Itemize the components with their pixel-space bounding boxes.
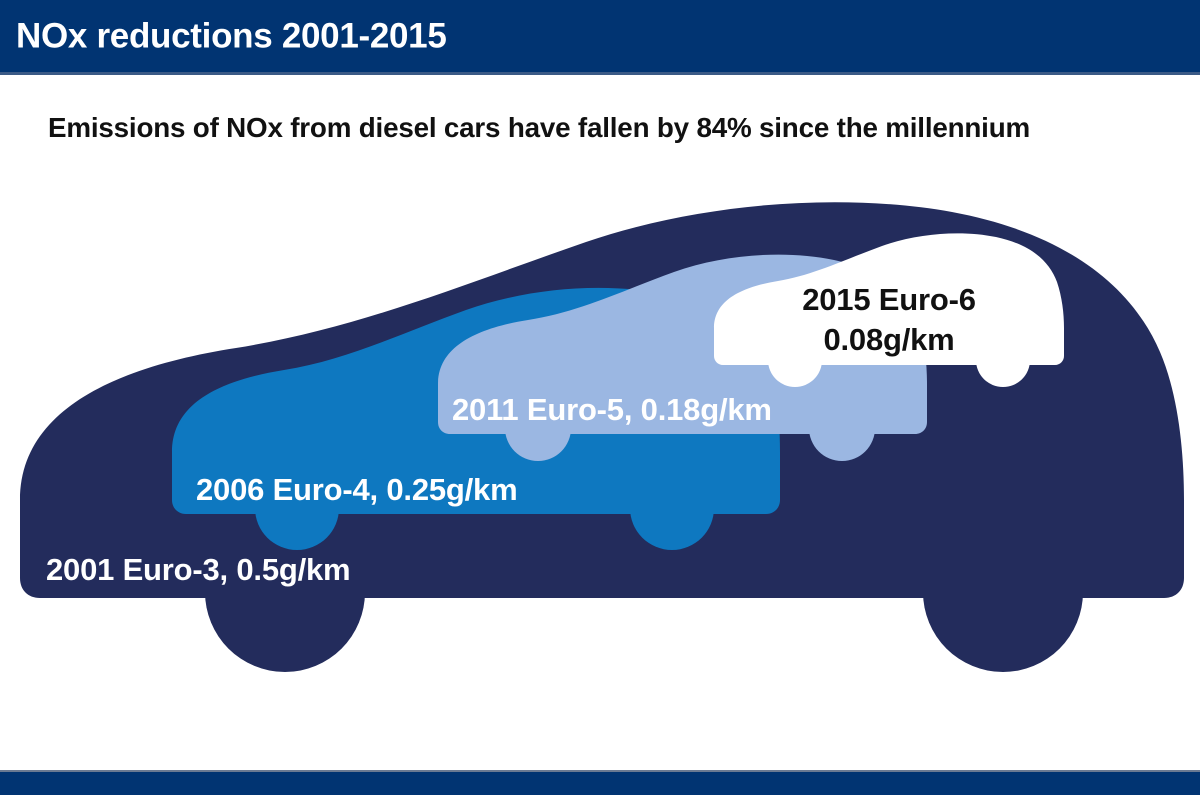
car-euro6-label-line1: 2015 Euro-6	[802, 282, 976, 317]
car-euro5-label: 2011 Euro-5, 0.18g/km	[452, 392, 772, 427]
car-silhouette-chart: 2001 Euro-3, 0.5g/km 2006 Euro-4, 0.25g/…	[0, 170, 1200, 710]
nested-cars-svg: 2001 Euro-3, 0.5g/km 2006 Euro-4, 0.25g/…	[0, 170, 1200, 710]
car-euro3-label: 2001 Euro-3, 0.5g/km	[46, 552, 350, 587]
header-bar: NOx reductions 2001-2015	[0, 0, 1200, 72]
header-underline	[0, 72, 1200, 75]
car-euro4-label: 2006 Euro-4, 0.25g/km	[196, 472, 517, 507]
infographic-root: NOx reductions 2001-2015 Emissions of NO…	[0, 0, 1200, 795]
subtitle-text: Emissions of NOx from diesel cars have f…	[48, 112, 1160, 144]
car-euro6-label-line2: 0.08g/km	[823, 322, 954, 357]
page-title: NOx reductions 2001-2015	[16, 19, 447, 54]
footer-bar	[0, 772, 1200, 795]
